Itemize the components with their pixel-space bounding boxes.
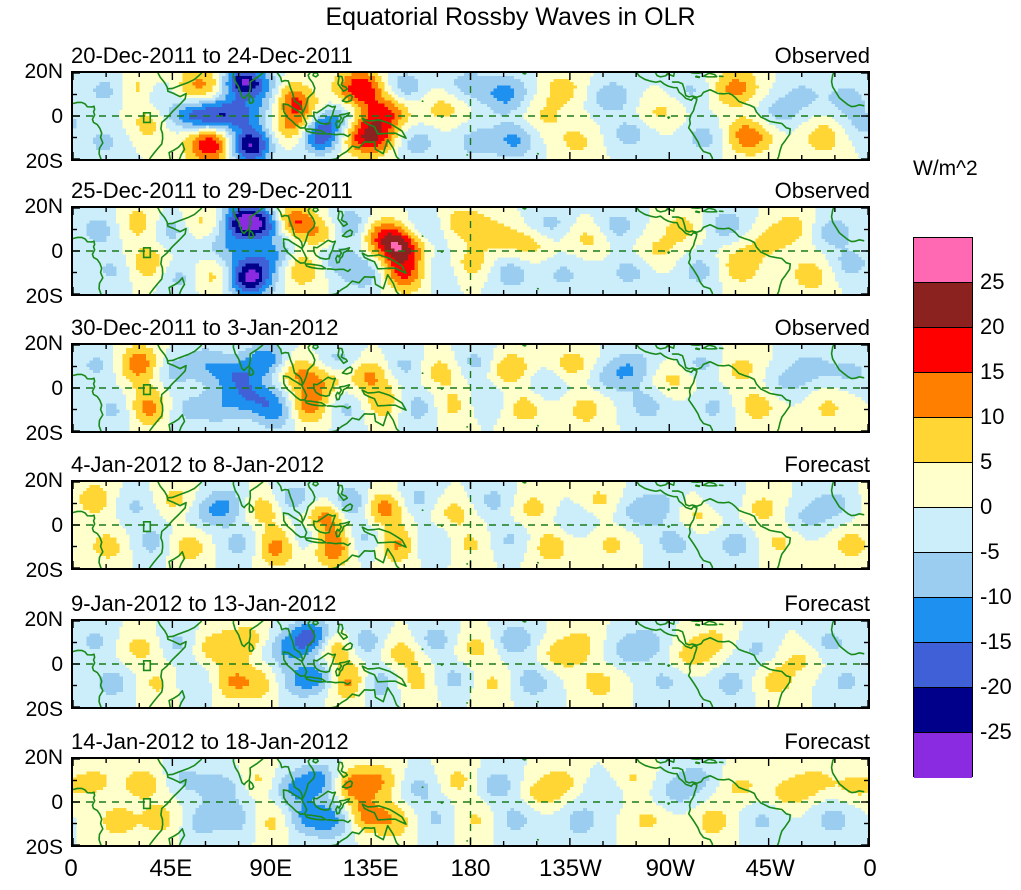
lon-tick-label: 135W bbox=[539, 855, 602, 883]
colorbar-tick-label: -20 bbox=[980, 676, 1012, 698]
colorbar-tick-label: 0 bbox=[980, 496, 992, 518]
coastline bbox=[696, 211, 700, 212]
lat-label-0: 0 bbox=[51, 515, 63, 536]
colorbar-tick-label: 25 bbox=[980, 271, 1004, 293]
lat-label-20n: 20N bbox=[24, 470, 63, 491]
coastline bbox=[668, 665, 670, 666]
panel-6-map bbox=[71, 757, 870, 847]
panel-2-status: Observed bbox=[775, 179, 870, 203]
panel-5-period: 9-Jan-2012 to 13-Jan-2012 bbox=[71, 592, 336, 616]
colorbar-band bbox=[914, 373, 972, 418]
colorbar-unit-label: W/m^2 bbox=[913, 158, 1021, 180]
panel-1-map bbox=[71, 71, 870, 161]
lat-label-20n: 20N bbox=[24, 196, 63, 217]
coastline bbox=[668, 252, 670, 253]
colorbar-tick-labels: 2520151050-5-10-15-20-25 bbox=[980, 237, 1021, 777]
colorbar-band bbox=[914, 733, 972, 778]
panel-1-period: 20-Dec-2011 to 24-Dec-2011 bbox=[71, 44, 353, 68]
coastline bbox=[523, 208, 526, 209]
colorbar-band bbox=[914, 688, 972, 733]
panel-4-period: 4-Jan-2012 to 8-Jan-2012 bbox=[71, 453, 324, 477]
panel-field bbox=[73, 759, 868, 845]
lat-label-0: 0 bbox=[51, 241, 63, 262]
lon-tick-label: 135E bbox=[343, 855, 399, 883]
lat-label-20s: 20S bbox=[26, 151, 63, 172]
panel-3-period: 30-Dec-2011 to 3-Jan-2012 bbox=[71, 316, 338, 340]
coastline bbox=[523, 345, 526, 346]
panel-5-map bbox=[71, 619, 870, 709]
coastline bbox=[696, 624, 700, 625]
colorbar-band bbox=[914, 463, 972, 508]
panel-field bbox=[73, 621, 868, 707]
coastline bbox=[668, 526, 670, 527]
coastline bbox=[668, 389, 670, 390]
coastline bbox=[523, 759, 526, 760]
lat-label-20n: 20N bbox=[24, 609, 63, 630]
panel-2-period: 25-Dec-2011 to 29-Dec-2011 bbox=[71, 179, 353, 203]
panel-4-status: Forecast bbox=[784, 453, 870, 477]
colorbar-band bbox=[914, 553, 972, 598]
panel-4-lat-ticks: 20N 0 20S bbox=[0, 480, 63, 570]
longitude-axis: 045E90E135E180135W90W45W0 bbox=[71, 855, 870, 885]
lat-label-20n: 20N bbox=[24, 61, 63, 82]
lat-label-0: 0 bbox=[51, 654, 63, 675]
lon-tick-label: 180 bbox=[450, 855, 490, 883]
panel-2-map bbox=[71, 206, 870, 296]
panel-4-map bbox=[71, 480, 870, 570]
colorbar-tick-label: -10 bbox=[980, 586, 1012, 608]
coastline bbox=[523, 621, 526, 622]
colorbar-band bbox=[914, 418, 972, 463]
lat-label-20s: 20S bbox=[26, 560, 63, 581]
colorbar-band bbox=[914, 643, 972, 688]
lat-label-20n: 20N bbox=[24, 333, 63, 354]
panel-5-status: Forecast bbox=[784, 592, 870, 616]
panel-field bbox=[73, 345, 868, 431]
panel-1-lat-ticks: 20N 0 20S bbox=[0, 71, 63, 161]
colorbar-band bbox=[914, 328, 972, 373]
colorbar-band bbox=[914, 598, 972, 643]
panel-field bbox=[73, 73, 868, 159]
lon-tick-label: 45E bbox=[150, 855, 193, 883]
lon-tick-label: 45W bbox=[745, 855, 794, 883]
coastline bbox=[696, 485, 700, 486]
colorbar-tick-label: 10 bbox=[980, 406, 1004, 428]
coastline bbox=[668, 117, 670, 118]
panel-6-lat-ticks: 20N 0 20S bbox=[0, 757, 63, 847]
lat-label-20s: 20S bbox=[26, 286, 63, 307]
coastline bbox=[696, 76, 700, 77]
lon-tick-label: 90W bbox=[646, 855, 695, 883]
coastline bbox=[696, 762, 700, 763]
lat-label-20s: 20S bbox=[26, 837, 63, 858]
lon-tick-label: 90E bbox=[249, 855, 292, 883]
colorbar-tick-label: 20 bbox=[980, 316, 1004, 338]
panel-3-status: Observed bbox=[775, 316, 870, 340]
panel-1-status: Observed bbox=[775, 44, 870, 68]
lat-label-0: 0 bbox=[51, 106, 63, 127]
colorbar-tick-label: 15 bbox=[980, 361, 1004, 383]
colorbar-tick-label: 5 bbox=[980, 451, 992, 473]
colorbar-band bbox=[914, 238, 972, 283]
figure-title: Equatorial Rossby Waves in OLR bbox=[0, 2, 1021, 32]
panel-2-lat-ticks: 20N 0 20S bbox=[0, 206, 63, 296]
panel-3-map bbox=[71, 343, 870, 433]
panel-3-lat-ticks: 20N 0 20S bbox=[0, 343, 63, 433]
coastline bbox=[668, 803, 670, 804]
panel-5-lat-ticks: 20N 0 20S bbox=[0, 619, 63, 709]
lat-label-20s: 20S bbox=[26, 423, 63, 444]
lat-label-20n: 20N bbox=[24, 747, 63, 768]
panel-field bbox=[73, 208, 868, 294]
lat-label-0: 0 bbox=[51, 378, 63, 399]
coastline bbox=[523, 73, 526, 74]
lon-tick-label: 0 bbox=[863, 855, 876, 883]
panel-6-period: 14-Jan-2012 to 18-Jan-2012 bbox=[71, 730, 349, 754]
colorbar-tick-label: -15 bbox=[980, 631, 1012, 653]
coastline bbox=[696, 348, 700, 349]
colorbar-band bbox=[914, 283, 972, 328]
lat-label-20s: 20S bbox=[26, 699, 63, 720]
panel-field bbox=[73, 482, 868, 568]
figure-root: Equatorial Rossby Waves in OLR 20-Dec-20… bbox=[0, 0, 1021, 890]
lon-tick-label: 0 bbox=[64, 855, 77, 883]
lat-label-0: 0 bbox=[51, 792, 63, 813]
colorbar-tick-label: -5 bbox=[980, 541, 1000, 563]
colorbar bbox=[913, 237, 973, 777]
panel-6-status: Forecast bbox=[784, 730, 870, 754]
colorbar-band bbox=[914, 508, 972, 553]
coastline bbox=[523, 482, 526, 483]
colorbar-tick-label: -25 bbox=[980, 721, 1012, 743]
